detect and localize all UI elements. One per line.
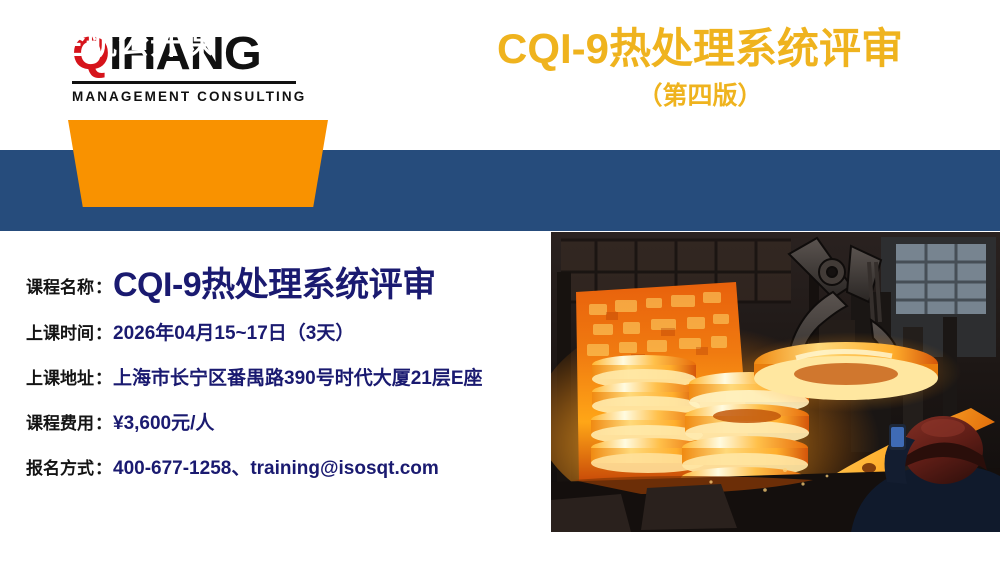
heat-treatment-photo-illustration [551, 232, 1000, 532]
page-title-block: CQI-9热处理系统评审 （第四版） [400, 27, 1000, 111]
public-course-badge-label: 企航公开课 [0, 0, 268, 87]
detail-value: CQI-9热处理系统评审 [113, 268, 436, 302]
course-details: 课程名称 ： CQI-9热处理系统评审 上课时间 ： 2026年04月15~17… [26, 268, 546, 498]
logo-tagline: MANAGEMENT CONSULTING [72, 89, 312, 104]
detail-row-course-name: 课程名称 ： CQI-9热处理系统评审 [26, 268, 546, 302]
detail-row-course-date: 上课时间 ： 2026年04月15~17日（3天） [26, 318, 546, 345]
detail-label: 课程费用 [26, 409, 94, 434]
detail-colon: ： [94, 319, 113, 344]
detail-label: 课程名称 [26, 273, 94, 298]
detail-label: 上课时间 [26, 319, 94, 344]
detail-label: 上课地址 [26, 364, 94, 389]
detail-label: 报名方式 [26, 454, 94, 479]
detail-value: 2026年04月15~17日（3天） [113, 318, 354, 345]
detail-row-registration: 报名方式 ： 400-677-1258、training@isosqt.com [26, 453, 546, 480]
detail-colon: ： [94, 409, 113, 434]
detail-row-course-address: 上课地址 ： 上海市长宁区番禺路390号时代大厦21层E座 [26, 363, 546, 390]
detail-value: 400-677-1258、training@isosqt.com [113, 453, 439, 480]
course-poster: QIHANG MANAGEMENT CONSULTING CQI-9热处理系统评… [0, 0, 1000, 562]
heat-treatment-photo [551, 232, 1000, 532]
detail-value: ¥3,600元/人 [113, 408, 214, 435]
public-course-badge [64, 120, 332, 207]
page-subtitle: （第四版） [400, 83, 1000, 111]
detail-colon: ： [94, 273, 113, 298]
detail-colon: ： [94, 454, 113, 479]
detail-value: 上海市长宁区番禺路390号时代大厦21层E座 [113, 363, 483, 390]
page-title: CQI-9热处理系统评审 [400, 27, 1000, 71]
detail-colon: ： [94, 364, 113, 389]
detail-row-course-fee: 课程费用 ： ¥3,600元/人 [26, 408, 546, 435]
